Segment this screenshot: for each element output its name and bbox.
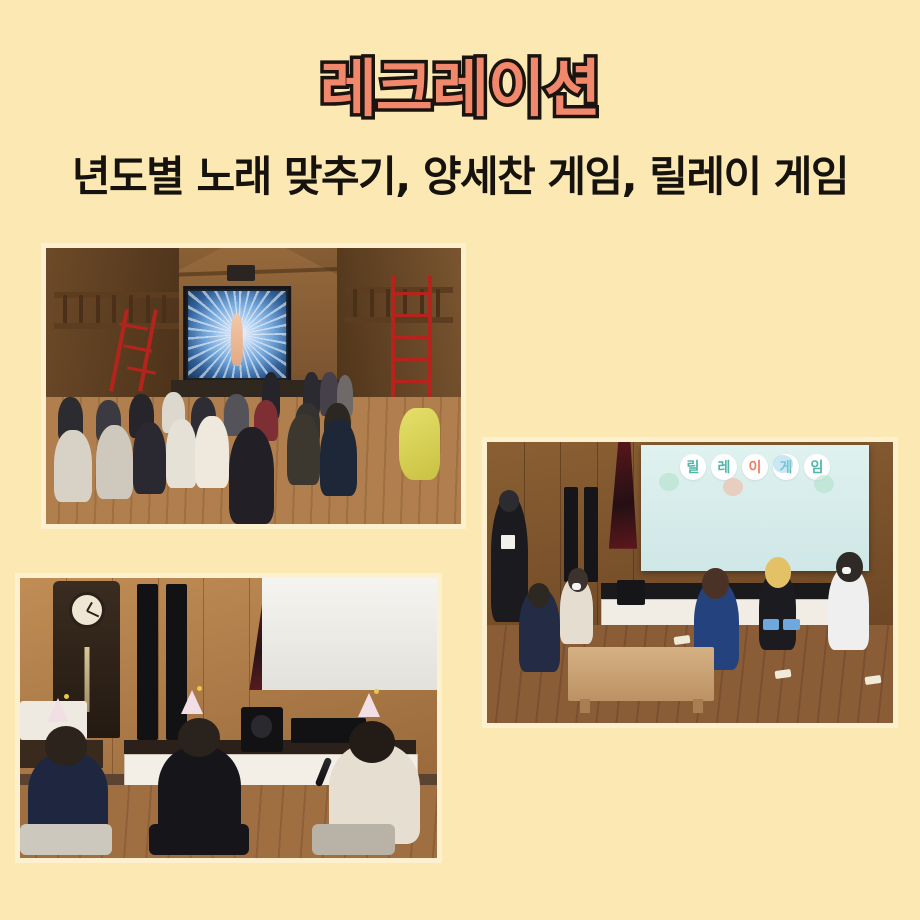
person-head — [702, 568, 728, 599]
party-hat-tip — [64, 694, 69, 699]
balcony-rail-right — [345, 317, 453, 323]
person-legs — [20, 824, 112, 855]
yellow-bag-icon — [399, 408, 441, 480]
photo-relay: 릴 레 이 게 임 — [487, 442, 893, 723]
baluster — [146, 295, 150, 323]
speaker-icon — [137, 584, 158, 741]
baluster — [96, 295, 100, 323]
speaker-cone — [251, 715, 272, 737]
person-head — [528, 583, 550, 608]
photo-relay-content: 릴 레 이 게 임 — [487, 442, 893, 723]
person — [287, 414, 320, 486]
baluster — [436, 289, 440, 317]
page-title: 레크레이션 — [0, 58, 920, 120]
person — [195, 416, 228, 488]
speaker-icon — [617, 580, 645, 605]
party-hat-icon — [358, 693, 380, 717]
ladder-rung — [393, 314, 432, 317]
relay-bubble: 레 — [711, 454, 737, 480]
screen-video — [188, 291, 286, 378]
decor-blob — [814, 475, 834, 493]
glove-icon — [763, 619, 779, 630]
photo-partyhats — [20, 578, 437, 858]
baluster — [370, 289, 374, 317]
person — [229, 427, 275, 524]
glove-icon — [783, 619, 799, 630]
photo-lecture — [46, 248, 461, 524]
relay-bubble-char: 임 — [810, 457, 823, 477]
person-legs — [312, 824, 395, 855]
photo-lecture-content — [46, 248, 461, 524]
page-subtitle: 년도별 노래 맞추기, 양세찬 게임, 릴레이 게임 — [0, 143, 920, 204]
ladder-rung — [393, 292, 432, 295]
decor-blob — [773, 455, 793, 473]
table-leg — [580, 699, 590, 713]
baluster — [63, 295, 67, 323]
relay-bubble-char: 릴 — [686, 457, 699, 477]
person-head — [178, 718, 220, 757]
baluster — [353, 289, 357, 317]
speaker-icon — [166, 584, 187, 741]
person — [166, 419, 197, 488]
clock-hand-minute — [86, 610, 99, 617]
person — [54, 430, 91, 502]
clock-face — [69, 592, 105, 628]
relay-bubble-char: 이 — [748, 457, 761, 477]
projection-screen-icon — [186, 289, 288, 380]
baluster — [79, 295, 83, 323]
party-hat-icon — [181, 690, 203, 714]
relay-bubble: 릴 — [680, 454, 706, 480]
party-hat-icon — [47, 698, 69, 722]
person — [133, 422, 166, 494]
decor-blob — [723, 478, 743, 496]
person-legs — [149, 824, 249, 855]
projection-screen-icon: 릴 레 이 게 임 — [641, 445, 868, 571]
relay-bubble: 이 — [742, 454, 768, 480]
face-mask-icon — [842, 567, 851, 574]
baluster — [112, 295, 116, 323]
ladder-rung — [393, 336, 432, 339]
person — [96, 425, 133, 500]
face-mask-icon — [572, 583, 581, 590]
speaker-icon — [584, 487, 598, 583]
balcony-rail-left — [54, 292, 179, 298]
person — [320, 419, 357, 496]
photo-partyhats-content — [20, 578, 437, 858]
performer-silhouette — [231, 314, 244, 366]
baluster — [162, 295, 166, 323]
poster-canvas: 레크레이션 년도별 노래 맞추기, 양세찬 게임, 릴레이 게임 — [0, 0, 920, 920]
table-leg — [693, 699, 703, 713]
low-table-icon — [568, 647, 714, 700]
decor-blob — [659, 473, 679, 491]
baluster — [129, 295, 133, 323]
ladder-rung — [393, 380, 432, 383]
projection-screen-icon — [262, 578, 437, 690]
name-badge — [501, 535, 515, 549]
person-head — [45, 726, 87, 765]
relay-game-title: 릴 레 이 게 임 — [680, 454, 830, 480]
ladder-rung — [393, 358, 432, 361]
balcony-rail-left — [54, 323, 179, 329]
projector-icon — [227, 265, 255, 281]
game-card — [864, 675, 881, 685]
relay-bubble-char: 레 — [717, 457, 730, 477]
person-head — [349, 721, 395, 763]
